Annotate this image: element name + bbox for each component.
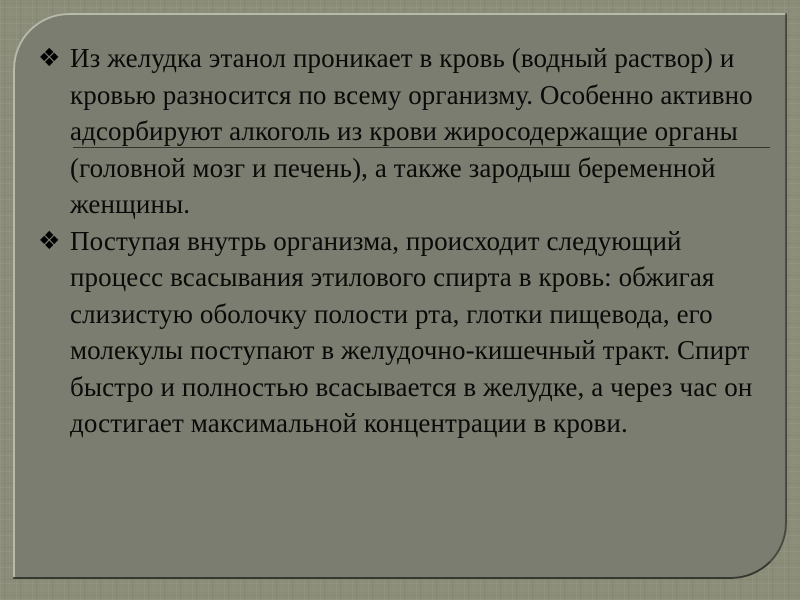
slide-text-body: ❖ Из желудка этанол проникает в кровь (в…	[38, 40, 778, 442]
bullet-paragraph-1: ❖ Из желудка этанол проникает в кровь (в…	[38, 40, 778, 223]
paragraph-text: Поступая внутрь организма, происходит сл…	[70, 223, 778, 442]
horizontal-rule	[73, 147, 770, 148]
slide-frame: ❖ Из желудка этанол проникает в кровь (в…	[0, 0, 800, 600]
slide-content-panel: ❖ Из желудка этанол проникает в кровь (в…	[13, 13, 787, 579]
paragraph-text: Из желудка этанол проникает в кровь (вод…	[70, 40, 778, 223]
diamond-bullet-icon: ❖	[38, 223, 64, 260]
diamond-bullet-icon: ❖	[38, 40, 64, 77]
bullet-paragraph-2: ❖ Поступая внутрь организма, происходит …	[38, 223, 778, 442]
